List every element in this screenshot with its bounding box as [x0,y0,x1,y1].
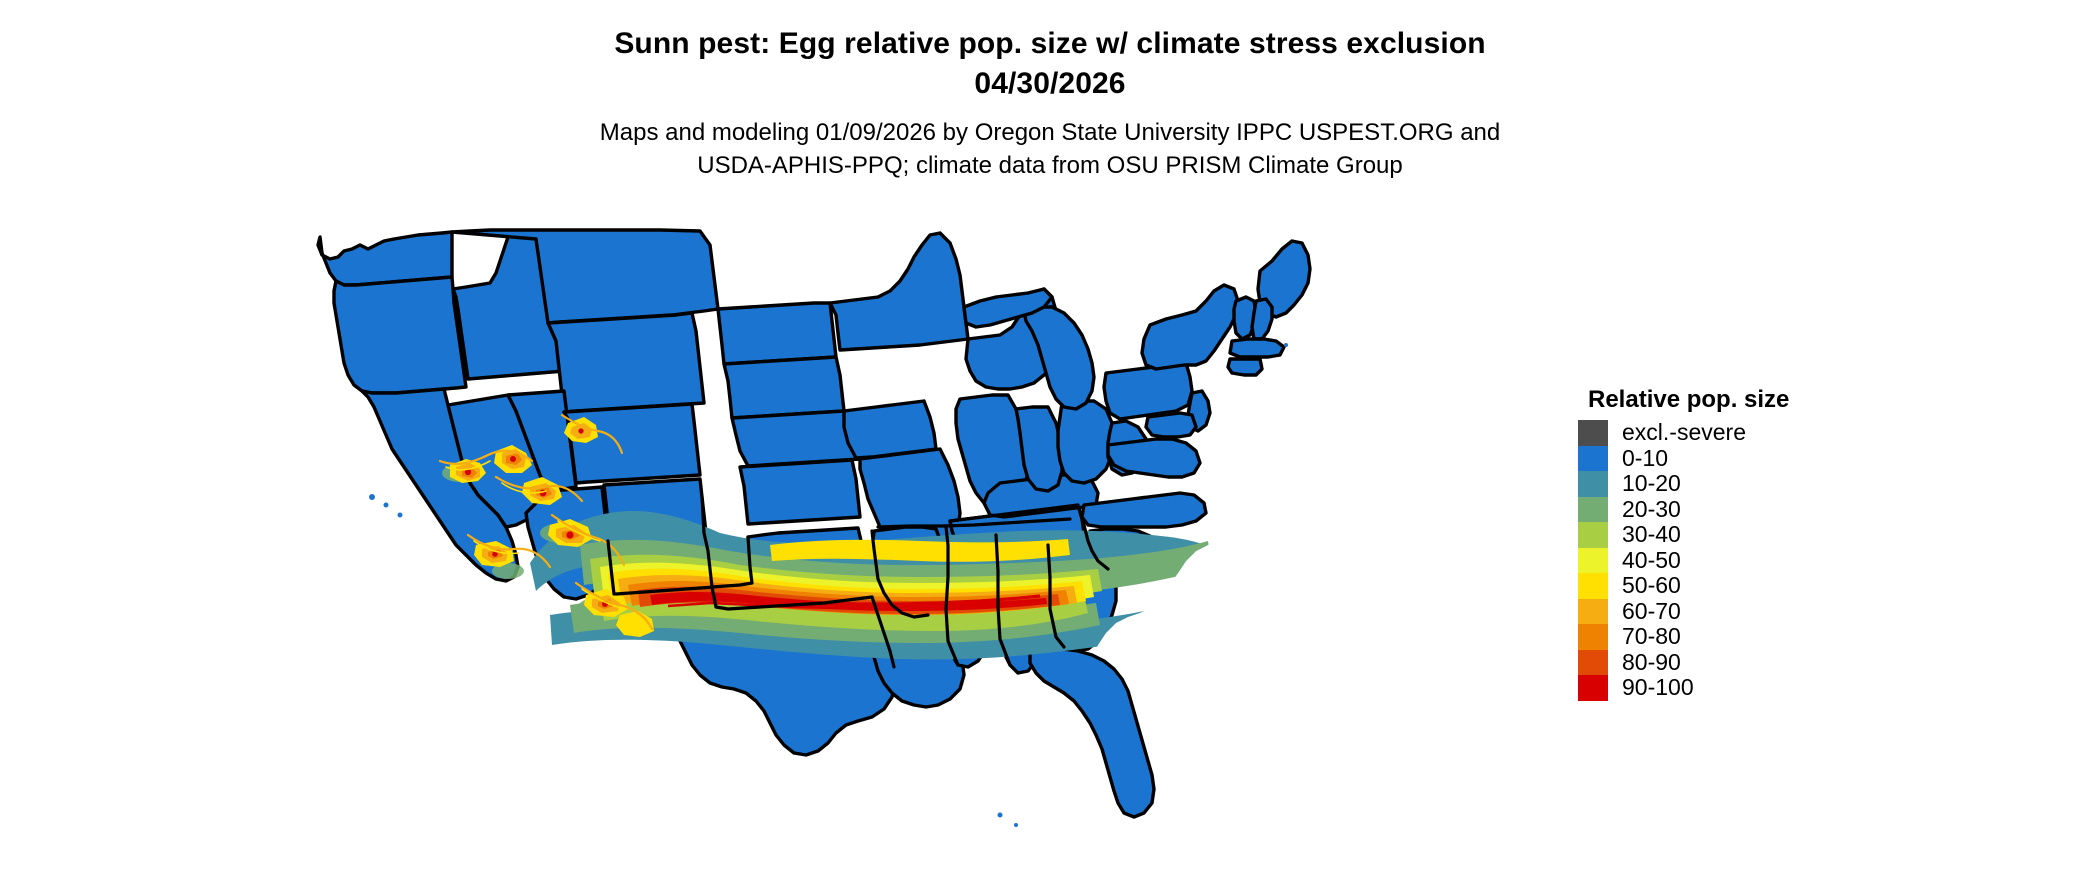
legend-item[interactable]: 10-20 [1578,471,1908,497]
island-pixel [598,333,602,337]
choropleth-map[interactable] [300,215,1560,885]
island-pixel [369,494,375,500]
state-ohio [1058,401,1114,483]
state-new-hampshire [1252,299,1272,339]
map-legend: Relative pop. size excl.-severe0-1010-20… [1578,386,1908,701]
state-oregon [334,277,466,393]
legend-item[interactable]: 90-100 [1578,675,1908,701]
state-minnesota [830,233,968,350]
legend-color-swatch [1578,548,1608,574]
map-base-layer [318,230,1310,827]
island-pixel [998,813,1003,818]
legend-title: Relative pop. size [1588,386,1908,414]
state-wyoming [548,313,704,412]
legend-item[interactable]: 20-30 [1578,497,1908,523]
legend-color-swatch [1578,471,1608,497]
legend-color-swatch [1578,420,1608,446]
legend-item[interactable]: 30-40 [1578,522,1908,548]
legend-color-swatch [1578,624,1608,650]
state-kansas [740,460,860,524]
state-pennsylvania [1104,363,1192,419]
legend-item[interactable]: 50-60 [1578,573,1908,599]
legend-item[interactable]: 0-10 [1578,446,1908,472]
legend-color-swatch [1578,675,1608,701]
state-florida [1030,649,1154,817]
legend-item-label: 10-20 [1622,471,1681,497]
state-connecticut-rhode-island [1228,359,1262,375]
legend-item-label: 0-10 [1622,446,1668,472]
legend-item-label: excl.-severe [1622,420,1746,446]
state-massachusetts [1230,339,1284,357]
legend-item[interactable]: excl.-severe [1578,420,1908,446]
legend-item[interactable]: 60-70 [1578,599,1908,625]
island-pixel [398,513,403,518]
legend-item-label: 50-60 [1622,573,1681,599]
legend-item-label: 30-40 [1622,522,1681,548]
state-south-dakota [724,357,844,418]
legend-item-label: 90-100 [1622,675,1694,701]
legend-item-label: 60-70 [1622,599,1681,625]
state-colorado [564,404,700,483]
state-delaware-maryland [1146,413,1196,437]
band-50-60-upper [770,539,1070,562]
island-pixel [1284,343,1288,347]
legend-color-swatch [1578,446,1608,472]
legend-item[interactable]: 40-50 [1578,548,1908,574]
island-pixel [1014,823,1018,827]
legend-color-swatch [1578,497,1608,523]
legend-color-swatch [1578,522,1608,548]
legend-rows: excl.-severe0-1010-2020-3030-4040-5050-6… [1578,420,1908,701]
legend-color-swatch [1578,573,1608,599]
map-header: Sunn pest: Egg relative pop. size w/ cli… [0,0,2100,182]
page-title: Sunn pest: Egg relative pop. size w/ cli… [0,0,2100,104]
legend-item-label: 70-80 [1622,624,1681,650]
legend-item-label: 20-30 [1622,497,1681,523]
island-pixel [384,503,389,508]
state-iowa [844,401,936,458]
legend-item-label: 80-90 [1622,650,1681,676]
legend-item[interactable]: 80-90 [1578,650,1908,676]
state-north-dakota [718,303,836,364]
state-new-york [1142,285,1238,369]
map-subtitle: Maps and modeling 01/09/2026 by Oregon S… [0,104,2100,182]
legend-color-swatch [1578,599,1608,625]
legend-item-label: 40-50 [1622,548,1681,574]
us-map-svg [300,215,1560,885]
legend-color-swatch [1578,650,1608,676]
legend-item[interactable]: 70-80 [1578,624,1908,650]
state-nebraska [732,411,860,466]
state-north-carolina [1082,493,1206,527]
